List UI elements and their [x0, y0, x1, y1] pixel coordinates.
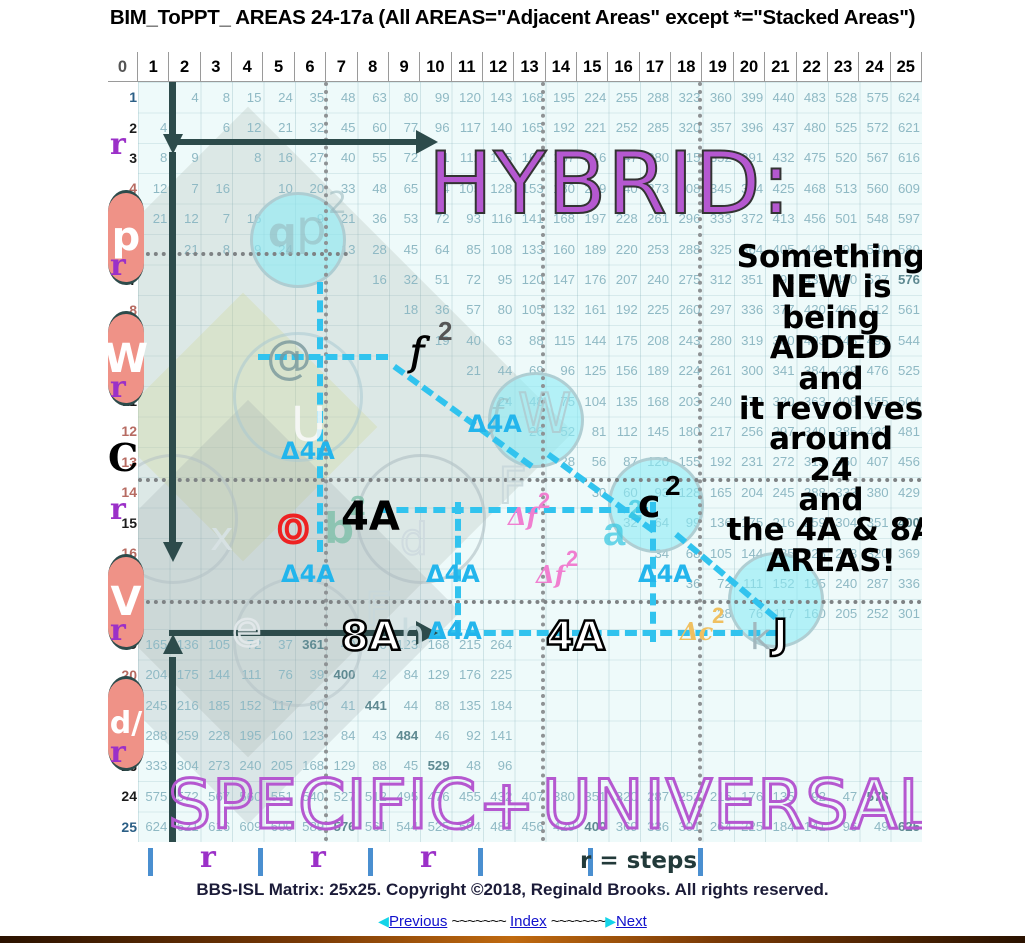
matrix-cell [859, 690, 890, 720]
matrix-cell: 225 [640, 295, 671, 325]
matrix-cell [201, 295, 232, 325]
matrix-cell: 123 [295, 720, 326, 750]
matrix-cell [326, 295, 357, 325]
label-delta-4a-3: Δ4A [426, 560, 480, 588]
matrix-cell: 144 [201, 660, 232, 690]
ghost-letter-at: @ [266, 330, 312, 384]
matrix-cell: 513 [828, 173, 859, 203]
matrix-cell [389, 416, 420, 446]
matrix-cell [138, 295, 169, 325]
matrix-cell [577, 690, 608, 720]
matrix-cell: 145 [640, 416, 671, 446]
matrix-cell [358, 416, 389, 446]
matrix-cell: 143 [483, 82, 514, 112]
column-header-row: 0123456789101112131415161718192021222324… [108, 52, 922, 82]
matrix-cell [358, 295, 389, 325]
matrix-cell: 36 [358, 204, 389, 234]
slide-page: BIM_ToPPT_ AREAS 24-17a (All AREAS="Adja… [0, 0, 1025, 943]
matrix-cell: 609 [891, 173, 922, 203]
matrix-cell [263, 295, 294, 325]
column-header-18: 18 [671, 52, 702, 82]
label-f-squared-exp: 2 [438, 316, 452, 347]
matrix-cell: 16 [201, 173, 232, 203]
matrix-cell: 56 [577, 447, 608, 477]
matrix-cell: 456 [797, 204, 828, 234]
previous-link[interactable]: Previous [389, 913, 447, 930]
matrix-row: 4815243548638099120143168195224255288323… [138, 82, 922, 112]
page-title: BIM_ToPPT_ AREAS 24-17a (All AREAS="Adja… [0, 6, 1025, 30]
label-c-squared: c [638, 482, 661, 526]
matrix-cell [201, 356, 232, 386]
matrix-cell: 42 [358, 660, 389, 690]
left-r-mark-3: r [110, 370, 126, 405]
bottom-r-mark-1: r [200, 840, 216, 875]
arrow-head-up-1 [163, 634, 183, 654]
message-block: SomethingNEW isbeingADDEDandit revolvesa… [726, 242, 922, 576]
column-header-22: 22 [797, 52, 828, 82]
matrix-cell: 27 [295, 143, 326, 173]
matrix-cell: 32 [389, 264, 420, 294]
column-header-15: 15 [577, 52, 608, 82]
column-header-11: 11 [452, 52, 483, 82]
bbs-isl-matrix-figure: 0123456789101112131415161718192021222324… [108, 52, 922, 842]
matrix-cell [859, 629, 890, 659]
matrix-cell: 44 [389, 690, 420, 720]
matrix-cell: 63 [483, 325, 514, 355]
column-header-6: 6 [295, 52, 326, 82]
matrix-cell: 575 [138, 781, 169, 811]
column-header-8: 8 [358, 52, 389, 82]
matrix-cell: 132 [546, 295, 577, 325]
matrix-cell [891, 720, 922, 750]
next-link[interactable]: Next [616, 913, 647, 930]
matrix-cell [201, 325, 232, 355]
bottom-tick-6 [698, 848, 703, 876]
ghost-letter-e: e [232, 602, 262, 658]
left-r-mark-5: r [110, 613, 126, 648]
left-r-mark-4: r [110, 492, 126, 527]
ghost-letter-h: h [400, 612, 425, 658]
message-line: AREAS! [726, 546, 922, 576]
bottom-tick-1 [148, 848, 153, 876]
matrix-cell [358, 325, 389, 355]
matrix-cell: 288 [640, 82, 671, 112]
ghost-letter-d: d [400, 514, 428, 565]
column-header-3: 3 [201, 52, 232, 82]
matrix-cell [232, 447, 263, 477]
matrix-cell: 160 [263, 720, 294, 750]
label-c-squared-exp: 2 [665, 470, 681, 502]
label-delta-c-squared-exp: 2 [712, 603, 724, 629]
label-delta-f-squared-1-exp: 2 [538, 488, 550, 514]
matrix-cell: 15 [232, 82, 263, 112]
matrix-cell [232, 173, 263, 203]
matrix-cell [608, 568, 639, 598]
matrix-cell: 43 [358, 720, 389, 750]
bottom-tick-3 [368, 848, 373, 876]
matrix-cell: 548 [859, 204, 890, 234]
copyright-text: BBS-ISL Matrix: 25x25. Copyright ©2018, … [0, 880, 1025, 900]
matrix-cell: 176 [577, 264, 608, 294]
matrix-cell: 360 [702, 82, 733, 112]
matrix-cell: 475 [797, 143, 828, 173]
matrix-cell: 468 [797, 173, 828, 203]
matrix-cell: 195 [546, 82, 577, 112]
matrix-cell: 28 [358, 234, 389, 264]
matrix-cell: 501 [828, 204, 859, 234]
left-r-mark-1: r [110, 127, 126, 162]
matrix-cell: 16 [263, 143, 294, 173]
matrix-cell: 84 [326, 720, 357, 750]
matrix-cell [828, 690, 859, 720]
matrix-cell [201, 143, 232, 173]
matrix-cell: 45 [389, 234, 420, 264]
label-delta-4a-2: Δ4A [281, 560, 335, 588]
matrix-cell: 35 [295, 82, 326, 112]
column-header-23: 23 [828, 52, 859, 82]
matrix-cell: 572 [859, 112, 890, 142]
matrix-cell: 220 [608, 234, 639, 264]
matrix-cell: 129 [420, 660, 451, 690]
matrix-cell [358, 356, 389, 386]
left-r-mark-2: r [110, 248, 126, 283]
message-line: it revolves [726, 394, 922, 424]
matrix-cell: 84 [389, 660, 420, 690]
column-header-9: 9 [389, 52, 420, 82]
matrix-cell: 575 [859, 82, 890, 112]
matrix-cell [797, 720, 828, 750]
matrix-cell: 63 [358, 82, 389, 112]
matrix-cell [483, 568, 514, 598]
tilde-separator-right: ~~~~~~~ [551, 913, 605, 930]
matrix-cell: 141 [483, 720, 514, 750]
desktop-taskbar-edge [0, 936, 1025, 943]
label-delta-c-squared: Δc [680, 617, 713, 646]
matrix-cell: 560 [859, 173, 890, 203]
bottom-r-mark-2: r [310, 840, 326, 875]
ghost-letter-p2: p [296, 200, 326, 256]
label-J: J [773, 612, 788, 658]
matrix-cell: 92 [452, 720, 483, 750]
message-line: and [726, 485, 922, 515]
column-header-10: 10 [420, 52, 451, 82]
matrix-cell [389, 386, 420, 416]
matrix-cell [734, 720, 765, 750]
matrix-cell: 125 [577, 356, 608, 386]
column-header-25: 25 [891, 52, 922, 82]
matrix-cell [765, 720, 796, 750]
matrix-cell: 624 [138, 812, 169, 842]
label-a-squared: a [603, 510, 625, 555]
message-line: the 4A & 8A [726, 515, 922, 545]
specific-label: SPECIFIC [168, 766, 477, 842]
matrix-cell: 152 [232, 690, 263, 720]
matrix-cell: 108 [483, 234, 514, 264]
column-header-13: 13 [514, 52, 545, 82]
column-header-5: 5 [263, 52, 294, 82]
label-4a-mid: 4A [546, 614, 605, 660]
matrix-cell: 24 [263, 82, 294, 112]
matrix-cell: 55 [358, 143, 389, 173]
matrix-plot: 4815243548638099120143168195224255288323… [138, 82, 922, 842]
matrix-cell [577, 660, 608, 690]
label-8a: 8A [341, 614, 400, 660]
matrix-cell: 185 [201, 690, 232, 720]
column-header-7: 7 [326, 52, 357, 82]
column-header-21: 21 [765, 52, 796, 82]
r-steps-label: r = steps [580, 848, 697, 874]
column-header-4: 4 [232, 52, 263, 82]
column-header-12: 12 [483, 52, 514, 82]
matrix-cell: 115 [546, 325, 577, 355]
matrix-cell: 168 [640, 386, 671, 416]
label-delta-f-squared-1: Δf [508, 502, 537, 531]
message-line: being [726, 303, 922, 333]
index-link[interactable]: Index [510, 913, 547, 930]
previous-arrow-icon: ◀ [378, 913, 389, 929]
row-header-24: 24 [108, 781, 138, 811]
label-f-squared: f [410, 330, 424, 374]
bottom-tick-2 [258, 848, 263, 876]
left-r-mark-6: r [110, 735, 126, 770]
matrix-cell [640, 660, 671, 690]
matrix-cell: 95 [483, 264, 514, 294]
matrix-cell [546, 720, 577, 750]
matrix-cell: 21 [452, 356, 483, 386]
ghost-letter-q: q [268, 210, 297, 256]
matrix-cell: 567 [859, 143, 890, 173]
matrix-cell: 484 [389, 720, 420, 750]
matrix-cell [734, 660, 765, 690]
column-header-20: 20 [734, 52, 765, 82]
arrow-horiz-line-1 [169, 139, 425, 145]
matrix-cell: 80 [389, 82, 420, 112]
matrix-cell [201, 386, 232, 416]
matrix-cell [734, 690, 765, 720]
matrix-cell [765, 660, 796, 690]
matrix-cell [201, 416, 232, 446]
label-delta-f-squared-2-exp: 2 [566, 546, 578, 572]
column-header-1: 1 [138, 52, 169, 82]
bottom-axis: rrr [138, 846, 922, 880]
matrix-cell [546, 660, 577, 690]
matrix-cell [138, 82, 169, 112]
message-line: around [726, 424, 922, 454]
label-delta-f-squared-2: Δf [536, 560, 565, 589]
message-line: and [726, 364, 922, 394]
matrix-cell [420, 416, 451, 446]
matrix-cell: 147 [546, 264, 577, 294]
row-header-1: 1 [108, 82, 138, 112]
matrix-cell [608, 660, 639, 690]
matrix-cell: 399 [734, 82, 765, 112]
matrix-cell [702, 660, 733, 690]
matrix-cell: 195 [232, 720, 263, 750]
column-header-19: 19 [702, 52, 733, 82]
navigation-bar: ◀Previous ~~~~~~~ Index ~~~~~~~▶Next [0, 913, 1025, 930]
matrix-cell: 204 [138, 660, 169, 690]
matrix-cell: 46 [420, 720, 451, 750]
matrix-cell: 72 [452, 264, 483, 294]
ghost-letter-x: x [210, 514, 234, 560]
ghost-letter-W: W [518, 382, 571, 445]
arrow-vert-line-2 [169, 152, 176, 552]
hybrid-heading: HYBRID: [428, 134, 792, 234]
matrix-cell: 616 [891, 143, 922, 173]
matrix-cell: 135 [608, 386, 639, 416]
left-big-letter-C: C [108, 435, 138, 480]
matrix-cell: 440 [765, 82, 796, 112]
tilde-separator-left: ~~~~~~~ [451, 913, 505, 930]
matrix-cell: 51 [420, 264, 451, 294]
matrix-cell: 156 [608, 356, 639, 386]
matrix-cell [420, 356, 451, 386]
matrix-cell: 57 [452, 295, 483, 325]
matrix-cell [640, 720, 671, 750]
message-line: NEW is [726, 272, 922, 302]
matrix-cell: 65 [389, 173, 420, 203]
matrix-row: 24521618515211780414414488135184 [138, 690, 922, 720]
matrix-cell [702, 720, 733, 750]
matrix-cell: 8 [201, 82, 232, 112]
label-delta-4a-1: Δ4A [281, 437, 335, 465]
ghost-letter-p2-exp: 2 [328, 186, 347, 221]
matrix-cell: 8 [232, 143, 263, 173]
matrix-cell: 192 [608, 295, 639, 325]
matrix-cell [765, 690, 796, 720]
matrix-cell: 120 [452, 82, 483, 112]
matrix-cell: 225 [483, 660, 514, 690]
matrix-cell: 53 [389, 204, 420, 234]
matrix-cell [859, 660, 890, 690]
matrix-cell [232, 538, 263, 568]
label-delta-4a-4: Δ4A [468, 410, 522, 438]
column-header-16: 16 [608, 52, 639, 82]
arrow-head-down-2 [163, 542, 183, 562]
message-line: 24 [726, 455, 922, 485]
arrow-vert-line-1 [169, 82, 176, 142]
column-header-17: 17 [640, 52, 671, 82]
matrix-cell: 64 [420, 234, 451, 264]
matrix-cell: 520 [828, 143, 859, 173]
matrix-cell [891, 629, 922, 659]
column-header-24: 24 [859, 52, 890, 82]
matrix-cell: 208 [640, 325, 671, 355]
matrix-cell: 18 [389, 295, 420, 325]
matrix-cell: 99 [420, 82, 451, 112]
bottom-tick-4 [478, 848, 483, 876]
matrix-cell: 189 [577, 234, 608, 264]
matrix-cell: 621 [891, 112, 922, 142]
matrix-cell: 528 [828, 82, 859, 112]
message-line: Something [726, 242, 922, 272]
plus-label: + [478, 766, 536, 842]
matrix-cell [201, 264, 232, 294]
column-header-2: 2 [169, 52, 200, 82]
matrix-cell: 48 [358, 173, 389, 203]
matrix-cell: 175 [608, 325, 639, 355]
matrix-cell: 253 [640, 234, 671, 264]
matrix-cell: 624 [891, 82, 922, 112]
universal-label: UNIVERSAL [542, 766, 922, 842]
matrix-cell [577, 568, 608, 598]
matrix-cell: 85 [452, 234, 483, 264]
matrix-cell [797, 690, 828, 720]
matrix-cell [828, 720, 859, 750]
matrix-cell [828, 629, 859, 659]
column-header-0: 0 [108, 52, 138, 82]
matrix-cell [608, 720, 639, 750]
matrix-cell: 12 [138, 173, 169, 203]
matrix-cell: 7 [201, 204, 232, 234]
matrix-cell [608, 690, 639, 720]
matrix-cell [483, 538, 514, 568]
matrix-cell: 88 [420, 690, 451, 720]
matrix-row: 28825922819516012384434844692141 [138, 720, 922, 750]
row-header-25: 25 [108, 811, 138, 841]
matrix-cell: 40 [452, 325, 483, 355]
ghost-letter-k: k [750, 617, 771, 658]
matrix-cell: 224 [577, 82, 608, 112]
matrix-cell: 161 [577, 295, 608, 325]
matrix-cell: 207 [608, 264, 639, 294]
matrix-cell: 441 [358, 690, 389, 720]
message-line: ADDED [726, 333, 922, 363]
matrix-cell: 8 [201, 234, 232, 264]
label-delta-4a-5: Δ4A [638, 560, 692, 588]
matrix-cell: 240 [640, 264, 671, 294]
matrix-cell [891, 660, 922, 690]
matrix-cell: 483 [797, 82, 828, 112]
matrix-cell: 144 [577, 325, 608, 355]
matrix-cell: 597 [891, 204, 922, 234]
matrix-cell: 16 [358, 264, 389, 294]
matrix-cell: 480 [797, 112, 828, 142]
matrix-cell [702, 690, 733, 720]
matrix-cell [797, 660, 828, 690]
label-4a-top: 4A [341, 494, 400, 540]
matrix-cell: 525 [828, 112, 859, 142]
matrix-cell: 176 [452, 660, 483, 690]
label-delta-4a-6: Δ4A [428, 617, 482, 645]
next-arrow-icon: ▶ [605, 913, 616, 929]
matrix-cell: 184 [483, 690, 514, 720]
matrix-cell: 135 [452, 690, 483, 720]
matrix-cell: 189 [640, 356, 671, 386]
matrix-cell [891, 690, 922, 720]
label-red-O: O [278, 510, 309, 551]
matrix-cell [828, 660, 859, 690]
column-header-14: 14 [546, 52, 577, 82]
matrix-cell [859, 720, 890, 750]
matrix-cell [577, 720, 608, 750]
matrix-cell: 40 [326, 143, 357, 173]
bottom-r-mark-3: r [420, 840, 436, 875]
matrix-cell: 112 [608, 416, 639, 446]
matrix-cell: 255 [608, 82, 639, 112]
matrix-cell: 48 [326, 82, 357, 112]
matrix-cell: 228 [201, 720, 232, 750]
matrix-cell [138, 416, 169, 446]
matrix-cell [640, 690, 671, 720]
matrix-cell: 160 [546, 234, 577, 264]
matrix-cell [232, 295, 263, 325]
matrix-cell: 80 [483, 295, 514, 325]
matrix-cell [546, 690, 577, 720]
